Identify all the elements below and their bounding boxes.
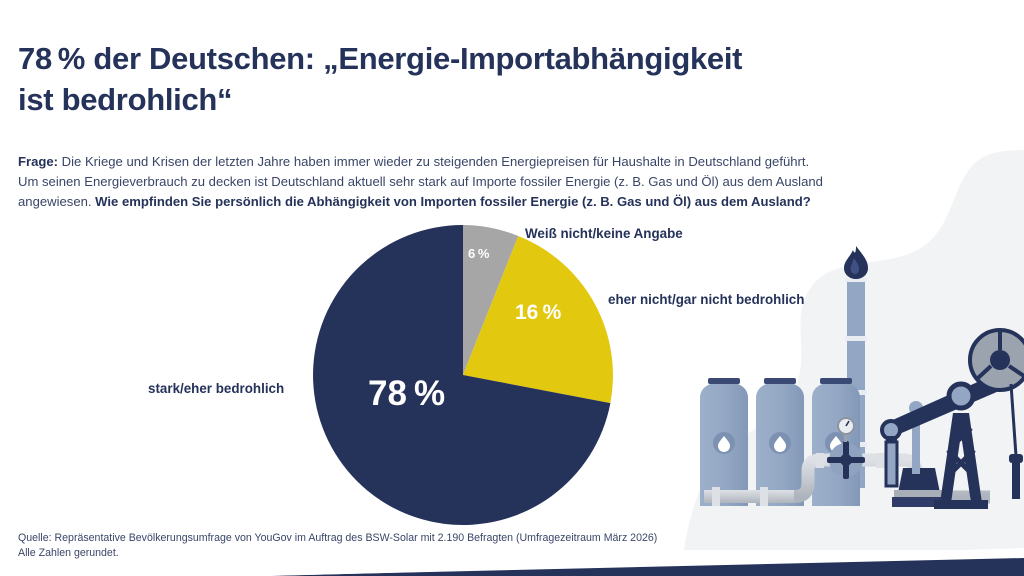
- source-line-1: Quelle: Repräsentative Bevölkerungsumfra…: [18, 531, 657, 546]
- pie-value-6: 6 %: [468, 246, 489, 261]
- question-line-1: Frage: Die Kriege und Krisen der letzten…: [18, 152, 986, 172]
- pie-chart-svg: [312, 225, 614, 527]
- question-line-1-rest: Die Kriege und Krisen der letzten Jahre …: [58, 154, 809, 169]
- question-line-3: angewiesen. Wie empfinden Sie persönlich…: [18, 192, 986, 212]
- pie-chart: [312, 225, 614, 527]
- pie-label-weiss-nicht: Weiß nicht/keine Angabe: [525, 226, 683, 241]
- oil-gas-illustration: [690, 238, 1024, 518]
- pie-value-78: 78 %: [368, 374, 445, 414]
- source-note: Quelle: Repräsentative Bevölkerungsumfra…: [18, 531, 657, 562]
- question-prefix-label: Frage:: [18, 154, 58, 169]
- question-block: Frage: Die Kriege und Krisen der letzten…: [18, 152, 986, 212]
- title-line-1: 78 % der Deutschen: „Energie-Importabhän…: [18, 38, 918, 79]
- question-line-2: Um seinen Energieverbrauch zu decken ist…: [18, 172, 986, 192]
- question-emphasis: Wie empfinden Sie persönlich die Abhängi…: [95, 194, 811, 209]
- title-line-2: ist bedrohlich“: [18, 79, 918, 120]
- question-line-3-normal: angewiesen.: [18, 194, 95, 209]
- pie-value-16: 16 %: [515, 301, 561, 325]
- source-line-2: Alle Zahlen gerundet.: [18, 546, 657, 561]
- page-title: 78 % der Deutschen: „Energie-Importabhän…: [18, 38, 918, 120]
- pie-label-stark-bedrohlich: stark/eher bedrohlich: [148, 381, 284, 396]
- storage-tanks-icon: [700, 378, 860, 506]
- infographic-canvas: 78 % der Deutschen: „Energie-Importabhän…: [0, 0, 1024, 576]
